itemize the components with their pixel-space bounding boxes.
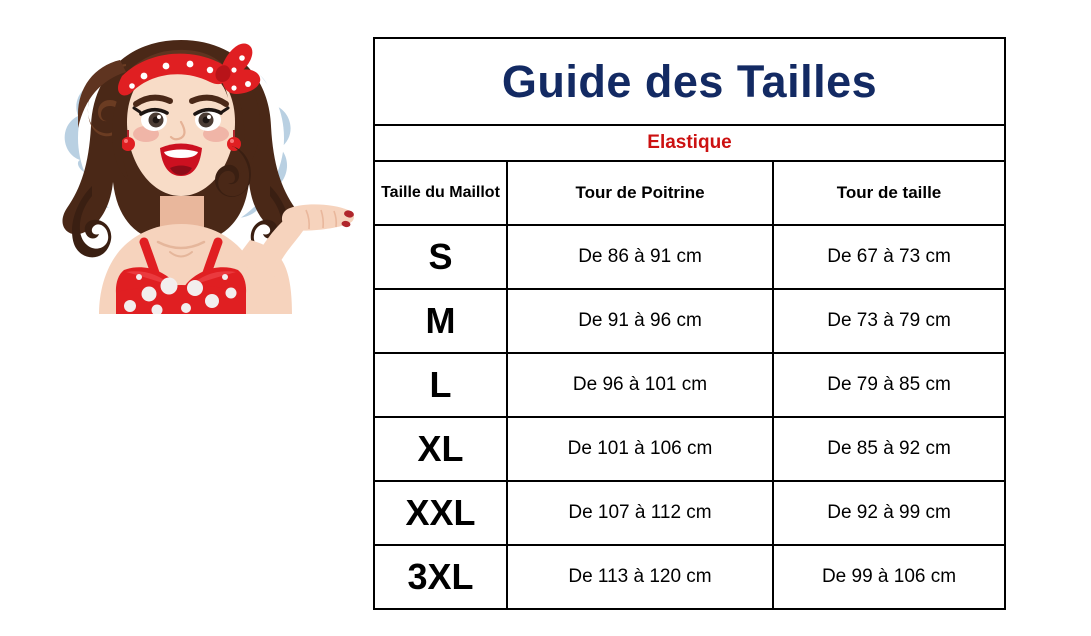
- size-value: XXL: [405, 492, 475, 533]
- bust-value: De 96 à 101 cm: [573, 374, 707, 395]
- waist-cell: De 67 à 73 cm: [773, 225, 1005, 289]
- table-subtitle-row: Elastique: [374, 125, 1005, 161]
- waist-value: De 92 à 99 cm: [827, 502, 951, 523]
- pinup-woman-illustration: [18, 18, 358, 348]
- size-value: S: [428, 236, 452, 277]
- size-cell: XL: [374, 417, 507, 481]
- size-guide-table: Guide des Tailles Elastique Taille du Ma…: [373, 37, 1006, 610]
- table-row: 3XL De 113 à 120 cm De 99 à 106 cm: [374, 545, 1005, 609]
- size-value: XL: [417, 428, 463, 469]
- waist-cell: De 85 à 92 cm: [773, 417, 1005, 481]
- size-cell: XXL: [374, 481, 507, 545]
- bust-value: De 86 à 91 cm: [578, 246, 702, 267]
- bust-cell: De 101 à 106 cm: [507, 417, 773, 481]
- waist-value: De 67 à 73 cm: [827, 246, 951, 267]
- waist-cell: De 73 à 79 cm: [773, 289, 1005, 353]
- size-cell: 3XL: [374, 545, 507, 609]
- size-guide-table-container: Guide des Tailles Elastique Taille du Ma…: [373, 37, 1004, 598]
- waist-value: De 99 à 106 cm: [822, 566, 956, 587]
- waist-value: De 79 à 85 cm: [827, 374, 951, 395]
- waist-cell: De 99 à 106 cm: [773, 545, 1005, 609]
- bust-cell: De 86 à 91 cm: [507, 225, 773, 289]
- table-row: L De 96 à 101 cm De 79 à 85 cm: [374, 353, 1005, 417]
- table-title-row: Guide des Tailles: [374, 38, 1005, 125]
- bust-cell: De 107 à 112 cm: [507, 481, 773, 545]
- table-row: XXL De 107 à 112 cm De 92 à 99 cm: [374, 481, 1005, 545]
- bust-value: De 107 à 112 cm: [568, 502, 711, 523]
- bust-cell: De 96 à 101 cm: [507, 353, 773, 417]
- waist-value: De 73 à 79 cm: [827, 310, 951, 331]
- size-cell: M: [374, 289, 507, 353]
- table-title-cell: Guide des Tailles: [374, 38, 1005, 125]
- size-value: M: [426, 300, 456, 341]
- material-label: Elastique: [647, 132, 731, 153]
- bust-value: De 113 à 120 cm: [568, 566, 711, 587]
- bust-cell: De 91 à 96 cm: [507, 289, 773, 353]
- table-row: XL De 101 à 106 cm De 85 à 92 cm: [374, 417, 1005, 481]
- size-value: 3XL: [407, 556, 473, 597]
- table-row: M De 91 à 96 cm De 73 à 79 cm: [374, 289, 1005, 353]
- waist-cell: De 79 à 85 cm: [773, 353, 1005, 417]
- size-cell: S: [374, 225, 507, 289]
- size-value: L: [430, 364, 452, 405]
- bust-cell: De 113 à 120 cm: [507, 545, 773, 609]
- bust-value: De 101 à 106 cm: [568, 438, 713, 459]
- table-subtitle-cell: Elastique: [374, 125, 1005, 161]
- column-header-size: Taille du Maillot: [374, 161, 507, 225]
- waist-value: De 85 à 92 cm: [827, 438, 951, 459]
- column-header-waist: Tour de taille: [773, 161, 1005, 225]
- table-row: S De 86 à 91 cm De 67 à 73 cm: [374, 225, 1005, 289]
- page-title: Guide des Tailles: [502, 56, 877, 107]
- bust-value: De 91 à 96 cm: [578, 310, 702, 331]
- waist-cell: De 92 à 99 cm: [773, 481, 1005, 545]
- column-header-bust: Tour de Poitrine: [507, 161, 773, 225]
- table-header-row: Taille du Maillot Tour de Poitrine Tour …: [374, 161, 1005, 225]
- size-cell: L: [374, 353, 507, 417]
